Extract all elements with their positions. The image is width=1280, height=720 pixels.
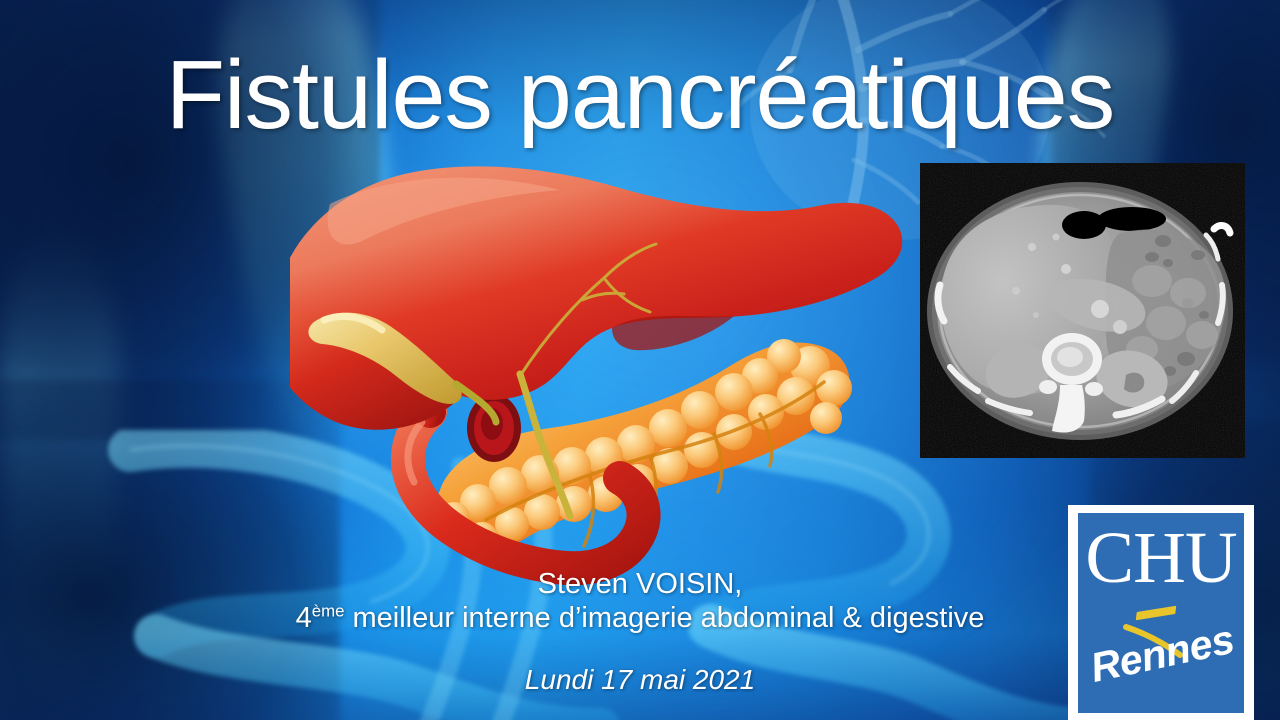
author-block: Steven VOISIN, 4ème meilleur interne d’i… xyxy=(0,567,1280,635)
author-role-ordinal-suffix: ème xyxy=(312,602,345,621)
author-role-text: meilleur interne d’imagerie abdominal & … xyxy=(344,602,984,634)
page-title: Fistules pancréatiques xyxy=(0,44,1280,146)
author-role: 4ème meilleur interne d’imagerie abdomin… xyxy=(0,601,1280,635)
author-name: Steven VOISIN, xyxy=(0,567,1280,601)
presentation-slide: CHU Rennes Fistules pancréatiques Steven… xyxy=(0,0,1280,720)
ct-scan-image xyxy=(920,163,1245,458)
pancreas-liver-illustration xyxy=(290,160,910,590)
author-role-rank: 4 xyxy=(296,602,312,634)
presentation-date: Lundi 17 mai 2021 xyxy=(0,664,1280,696)
